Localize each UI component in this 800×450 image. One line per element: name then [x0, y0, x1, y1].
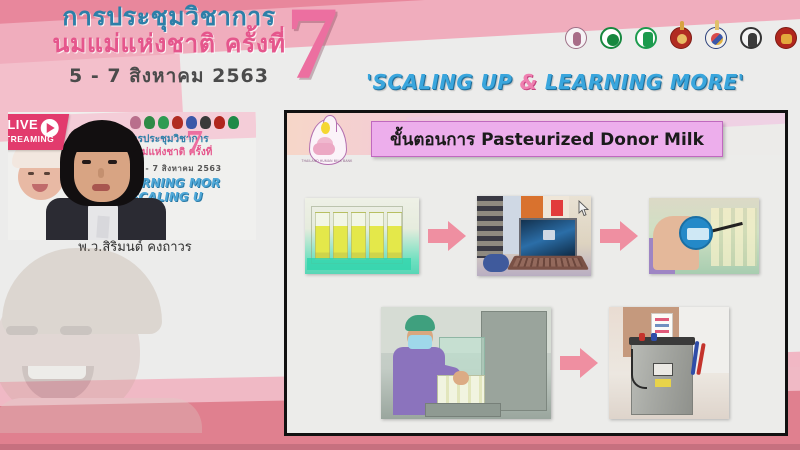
mouse-cursor — [578, 200, 590, 217]
photo-milk-bottle-racks — [305, 198, 419, 274]
process-row-top — [305, 191, 775, 281]
presenter-figure — [50, 120, 154, 240]
play-icon — [41, 119, 59, 137]
process-arrow-3 — [560, 346, 600, 380]
ministry-public-health-logo — [597, 22, 625, 54]
photo-nurse-loading-bottles — [381, 307, 551, 419]
subtitle-part1: 'SCALING UP — [366, 70, 520, 94]
black-seal-logo — [737, 22, 765, 54]
screenshot-stage: การประชุมวิชาการ นมแม่แห่งชาติ ครั้งที่ … — [0, 0, 800, 450]
subtitle-part2: LEARNING MORE' — [538, 70, 745, 94]
photo-pasteurizer-machine — [609, 307, 729, 419]
garuda-emblem-logo — [702, 22, 730, 54]
conference-title-line2: นมแม่แห่งชาติ ครั้งที่ — [24, 30, 314, 58]
slide-title: ขั้นตอนการ Pasteurized Donor Milk — [390, 126, 704, 153]
video-backdrop-edition: 7 — [186, 126, 203, 160]
human-milk-bank-logo: THAILAND HUMAN MILK BANK — [301, 117, 353, 167]
conference-dates: 5 - 7 สิงหาคม 2563 — [24, 61, 314, 91]
live-streaming-badge: LIVE STREAMING — [8, 114, 69, 150]
presentation-slide[interactable]: THAILAND HUMAN MILK BANK ขั้นตอนการ Past… — [284, 110, 788, 436]
watermark-child-photo — [0, 248, 242, 433]
process-row-bottom — [381, 303, 781, 423]
conference-title-block: การประชุมวิชาการ นมแม่แห่งชาติ ครั้งที่ … — [24, 4, 314, 91]
slide-header: THAILAND HUMAN MILK BANK ขั้นตอนการ Past… — [287, 113, 785, 167]
subtitle-ampersand: & — [520, 70, 538, 94]
department-health-logo — [632, 22, 660, 54]
conference-subtitle: 'SCALING UP & LEARNING MORE' — [366, 70, 796, 94]
live-badge-label: LIVE — [8, 117, 38, 132]
presenter-video-panel[interactable]: การประชุมวิชาการ นมแม่แห่งชาติ ครั้งที่ … — [8, 112, 256, 240]
conference-edition-number: 7 — [286, 0, 338, 96]
process-arrow-1 — [428, 219, 468, 253]
process-arrow-2 — [600, 219, 640, 253]
background-bottom-rule — [0, 444, 800, 450]
slide-title-box: ขั้นตอนการ Pasteurized Donor Milk — [371, 121, 723, 157]
thai-breastfeeding-foundation-logo — [562, 22, 590, 54]
red-seal-logo — [772, 22, 800, 54]
milk-bank-logo-caption: THAILAND HUMAN MILK BANK — [301, 159, 353, 163]
photo-laptop-recording — [477, 196, 591, 276]
sponsor-logo-strip — [562, 22, 800, 54]
royal-emblem-logo — [667, 22, 695, 54]
conference-title-line1: การประชุมวิชาการ — [24, 4, 314, 30]
photo-thermometer-check — [649, 198, 759, 274]
conference-header: การประชุมวิชาการ นมแม่แห่งชาติ ครั้งที่ … — [0, 0, 800, 108]
